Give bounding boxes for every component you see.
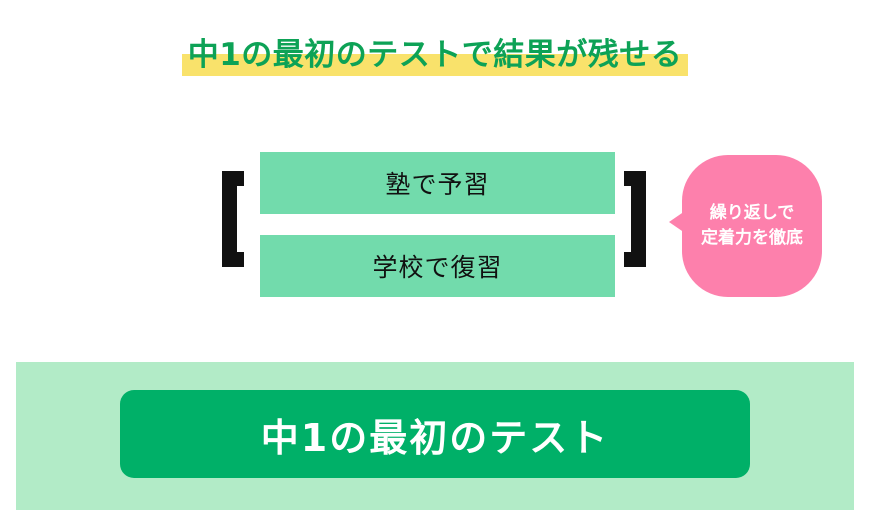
study-step-review-label: 学校で復習 xyxy=(372,248,502,284)
callout-bubble: 繰り返しで 定着力を徹底 xyxy=(682,155,822,297)
cta-button-label: 中1の最初のテスト xyxy=(261,407,609,462)
headline-section: 中1の最初のテストで結果が残せる xyxy=(0,24,870,86)
cta-button[interactable]: 中1の最初のテスト xyxy=(120,390,750,478)
study-step-preview-label: 塾で予習 xyxy=(385,165,489,201)
right-bracket-icon xyxy=(624,171,646,267)
page-title: 中1の最初のテストで結果が残せる xyxy=(182,40,689,71)
callout-tail-icon xyxy=(669,211,685,233)
callout-line-1: 繰り返しで xyxy=(710,201,795,226)
study-step-preview: 塾で予習 xyxy=(260,152,615,214)
study-step-review: 学校で復習 xyxy=(260,235,615,297)
left-bracket-icon xyxy=(222,171,244,267)
callout-line-2: 定着力を徹底 xyxy=(701,226,803,251)
page-title-text: 中1の最初のテストで結果が残せる xyxy=(188,37,683,73)
